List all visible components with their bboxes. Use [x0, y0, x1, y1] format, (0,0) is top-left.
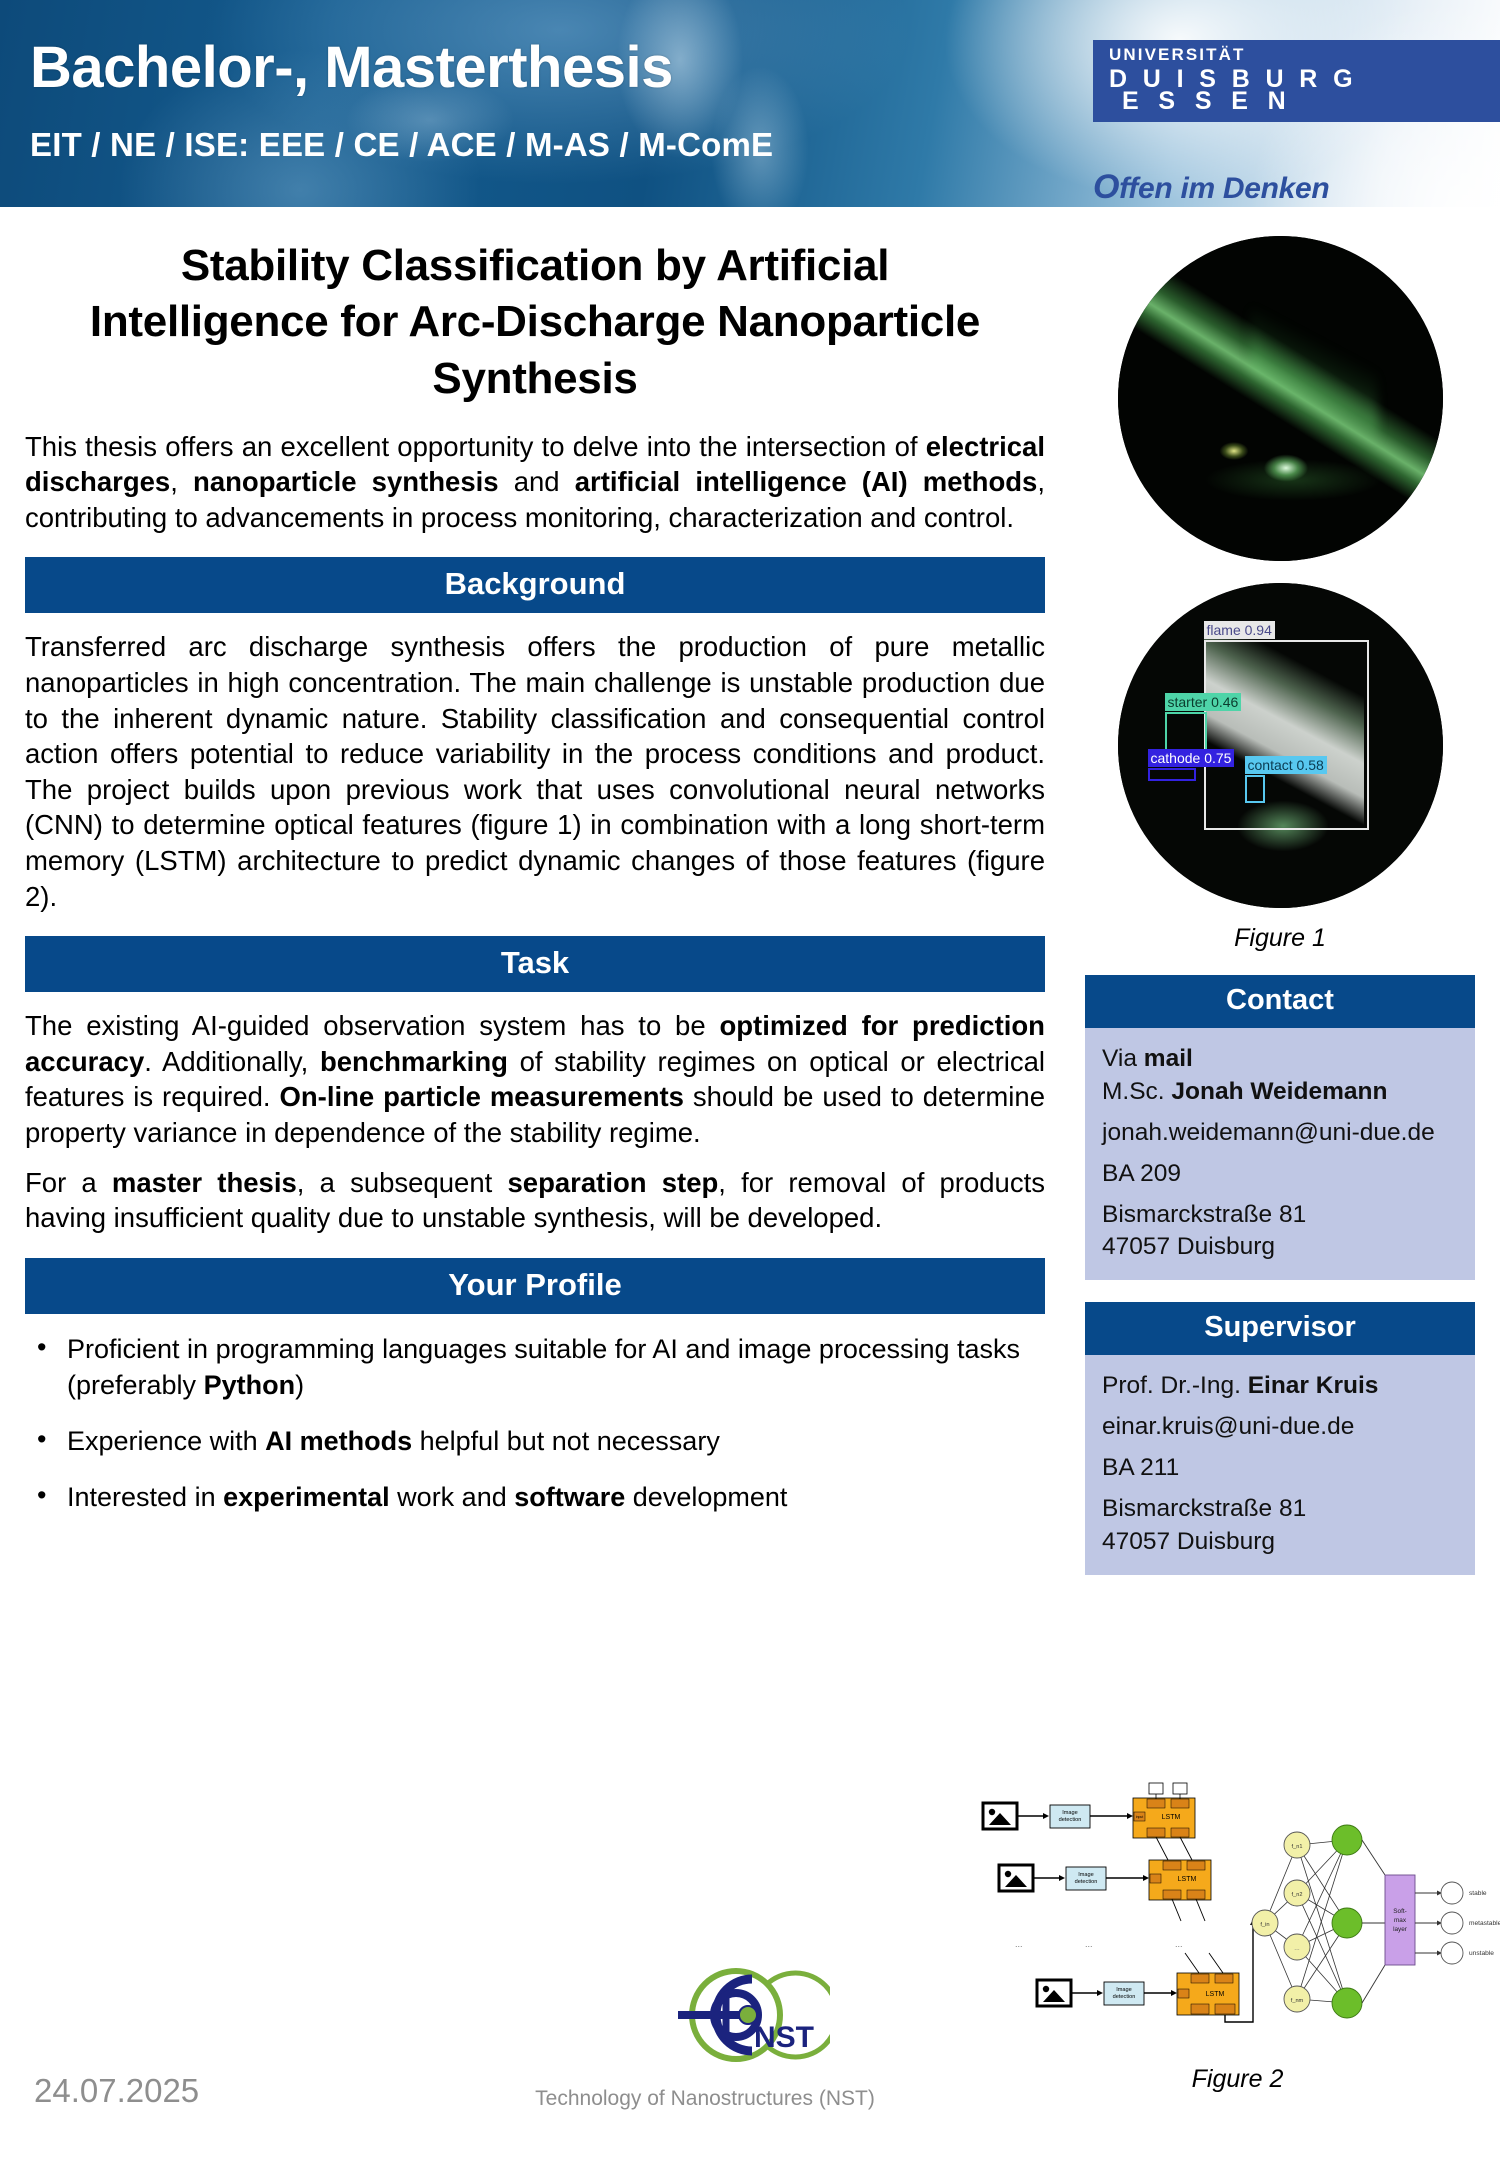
svg-text:input: input	[1136, 1815, 1143, 1819]
fig2-row-2: Image detection LSTM	[999, 1837, 1211, 1921]
supervisor-box: Supervisor Prof. Dr.-Ing. Einar Kruis ei…	[1085, 1302, 1475, 1574]
svg-text:...: ...	[1294, 1945, 1300, 1952]
intro-b2: nanoparticle synthesis	[193, 466, 499, 497]
footer-date: 24.07.2025	[34, 2072, 199, 2110]
fig2-ellipsis-1: ...	[1015, 1939, 1023, 1949]
bbox-contact	[1245, 775, 1265, 803]
list-item: Experience with AI methods helpful but n…	[25, 1424, 1045, 1460]
task-p2-t2: , a subsequent	[297, 1167, 508, 1198]
svg-text:Image: Image	[1062, 1810, 1078, 1816]
contact-heading: Contact	[1085, 975, 1475, 1028]
profile-2-t1: Interested in	[67, 1482, 223, 1512]
footer-organization: Technology of Nanostructures (NST)	[395, 2087, 1015, 2111]
contact-title-prefix: M.Sc.	[1102, 1078, 1171, 1105]
profile-2-t3: development	[625, 1482, 787, 1512]
figure2-caption: Figure 2	[975, 2065, 1500, 2094]
supervisor-city: 47057 Duisburg	[1102, 1527, 1458, 1557]
contact-via: Via mail	[1102, 1044, 1458, 1074]
background-paragraph: Transferred arc discharge synthesis offe…	[25, 629, 1045, 914]
svg-text:Soft-: Soft-	[1393, 1908, 1407, 1915]
fig2-output-metastable: metastable	[1469, 1920, 1500, 1927]
svg-text:f_in: f_in	[1260, 1922, 1269, 1928]
profile-2-t2: work and	[390, 1482, 515, 1512]
arc-discharge-photo	[1118, 236, 1443, 561]
contact-via-prefix: Via	[1102, 1045, 1144, 1072]
contact-city: 47057 Duisburg	[1102, 1232, 1458, 1262]
detection-overlay-image: flame 0.94 starter 0.46 cathode 0.75 con…	[1118, 583, 1443, 908]
section-body-background: Transferred arc discharge synthesis offe…	[25, 629, 1045, 914]
nst-logo-svg: NST	[670, 1965, 830, 2085]
bbox-label-contact: contact 0.58	[1245, 756, 1327, 774]
ude-logo-essen: E S S E N	[1122, 87, 1292, 116]
supervisor-name: Prof. Dr.-Ing. Einar Kruis	[1102, 1371, 1458, 1401]
intro-t3: and	[499, 466, 575, 497]
profile-1-t2: helpful but not necessary	[412, 1426, 720, 1456]
fig2-neural-network: f_in f_n1 f_n2 ... f_nm S	[1252, 1825, 1500, 2018]
fig2-output-stable: stable	[1469, 1890, 1487, 1897]
intro-b3: artificial intelligence (AI) methods	[575, 466, 1038, 497]
figure1-images: flame 0.94 starter 0.46 cathode 0.75 con…	[1118, 236, 1443, 908]
svg-text:max: max	[1394, 1917, 1407, 1924]
intro-t1: This thesis offers an excellent opportun…	[25, 431, 926, 462]
banner-bottom-rule	[0, 207, 1500, 212]
contact-body: Via mail M.Sc. Jonah Weidemann jonah.wei…	[1085, 1028, 1475, 1280]
banner-subtitle: EIT / NE / ISE: EEE / CE / ACE / M-AS / …	[30, 126, 773, 164]
task-paragraph-2: For a master thesis, a subsequent separa…	[25, 1165, 1045, 1236]
fig2-ellipsis-3: ...	[1175, 1939, 1183, 1949]
svg-text:Image: Image	[1078, 1872, 1094, 1878]
contact-name: M.Sc. Jonah Weidemann	[1102, 1077, 1458, 1107]
figure2-diagram: Image detection LSTM input	[975, 1775, 1500, 2025]
task-p1-t1: The existing AI-guided observation syste…	[25, 1010, 719, 1041]
svg-text:LSTM: LSTM	[1162, 1814, 1181, 1821]
ude-slogan-lead: O	[1093, 168, 1119, 206]
svg-text:LSTM: LSTM	[1206, 1991, 1225, 1998]
task-p1-b3: On-line particle measurements	[279, 1081, 683, 1112]
fig2-ellipsis-2: ...	[1085, 1939, 1093, 1949]
ude-logo: UNIVERSITÄT D U I S B U R G E S S E N	[1093, 40, 1500, 122]
svg-text:detection: detection	[1059, 1817, 1082, 1823]
section-body-task: The existing AI-guided observation syste…	[25, 1008, 1045, 1236]
contact-name-bold: Jonah Weidemann	[1171, 1078, 1387, 1105]
section-header-your-profile: Your Profile	[25, 1258, 1045, 1314]
fig2-output-unstable: unstable	[1469, 1950, 1494, 1957]
profile-1-b1: AI methods	[265, 1426, 412, 1456]
svg-text:detection: detection	[1113, 1994, 1136, 2000]
header-banner: Bachelor-, Masterthesis EIT / NE / ISE: …	[0, 0, 1500, 212]
ude-slogan-rest: ffen im Denken	[1119, 172, 1329, 205]
section-header-background: Background	[25, 557, 1045, 613]
fig2-row-3: Image detection LSTM	[1037, 1953, 1239, 2015]
svg-text:Image: Image	[1116, 1987, 1132, 1993]
banner-title: Bachelor-, Masterthesis	[30, 34, 673, 101]
task-p1-b2: benchmarking	[320, 1046, 508, 1077]
bbox-cathode	[1148, 768, 1196, 781]
supervisor-email[interactable]: einar.kruis@uni-due.de	[1102, 1412, 1458, 1442]
profile-0-b1: Python	[204, 1370, 296, 1400]
fig2-row-1: Image detection LSTM input	[983, 1783, 1195, 1838]
arc-plume-image	[1118, 236, 1443, 561]
bbox-label-flame: flame 0.94	[1204, 621, 1275, 639]
right-column: flame 0.94 starter 0.46 cathode 0.75 con…	[1085, 236, 1475, 1575]
arc-detection-photo: flame 0.94 starter 0.46 cathode 0.75 con…	[1118, 583, 1443, 908]
contact-street: Bismarckstraße 81	[1102, 1200, 1458, 1230]
supervisor-room: BA 211	[1102, 1453, 1458, 1483]
nst-logo: NST	[670, 1965, 830, 2085]
ude-slogan: Offen im Denken	[1093, 168, 1329, 207]
supervisor-name-bold: Einar Kruis	[1248, 1372, 1379, 1399]
contact-via-bold: mail	[1144, 1045, 1193, 1072]
ude-logo-universitaet: UNIVERSITÄT	[1109, 45, 1245, 65]
profile-2-b1: experimental	[223, 1482, 390, 1512]
bbox-flame	[1204, 640, 1369, 830]
profile-0-t2: )	[295, 1370, 304, 1400]
section-header-task: Task	[25, 936, 1045, 992]
profile-2-b2: software	[514, 1482, 625, 1512]
task-p2-b1: master thesis	[112, 1167, 297, 1198]
contact-email[interactable]: jonah.weidemann@uni-due.de	[1102, 1118, 1458, 1148]
page-title: Stability Classification by Artificial I…	[25, 232, 1045, 407]
list-item: Interested in experimental work and soft…	[25, 1480, 1045, 1516]
nst-logo-text: NST	[754, 2021, 814, 2054]
svg-text:LSTM: LSTM	[1178, 1876, 1197, 1883]
svg-text:layer: layer	[1393, 1926, 1408, 1933]
bbox-label-starter: starter 0.46	[1165, 693, 1242, 711]
task-p2-t1: For a	[25, 1167, 112, 1198]
contact-box: Contact Via mail M.Sc. Jonah Weidemann j…	[1085, 975, 1475, 1280]
supervisor-body: Prof. Dr.-Ing. Einar Kruis einar.kruis@u…	[1085, 1355, 1475, 1574]
poster-page: Bachelor-, Masterthesis EIT / NE / ISE: …	[0, 0, 1500, 2167]
intro-t2: ,	[170, 466, 193, 497]
profile-list: Proficient in programming languages suit…	[25, 1332, 1045, 1516]
list-item: Proficient in programming languages suit…	[25, 1332, 1045, 1404]
profile-1-t1: Experience with	[67, 1426, 265, 1456]
left-column: Stability Classification by Artificial I…	[25, 232, 1045, 1536]
task-p1-t2: . Additionally,	[144, 1046, 320, 1077]
figure1-caption: Figure 1	[1085, 924, 1475, 953]
svg-text:detection: detection	[1075, 1879, 1098, 1885]
svg-text:f_n1: f_n1	[1292, 1844, 1303, 1850]
supervisor-street: Bismarckstraße 81	[1102, 1494, 1458, 1524]
task-paragraph-1: The existing AI-guided observation syste…	[25, 1008, 1045, 1150]
supervisor-title-prefix: Prof. Dr.-Ing.	[1102, 1372, 1248, 1399]
bbox-label-cathode: cathode 0.75	[1148, 749, 1235, 767]
svg-text:f_n2: f_n2	[1292, 1892, 1303, 1898]
intro-paragraph: This thesis offers an excellent opportun…	[25, 429, 1045, 535]
contact-room: BA 209	[1102, 1159, 1458, 1189]
svg-text:f_nm: f_nm	[1291, 1998, 1304, 2004]
task-p2-b2: separation step	[507, 1167, 718, 1198]
figure2-svg: Image detection LSTM input	[975, 1775, 1500, 2025]
supervisor-heading: Supervisor	[1085, 1302, 1475, 1355]
